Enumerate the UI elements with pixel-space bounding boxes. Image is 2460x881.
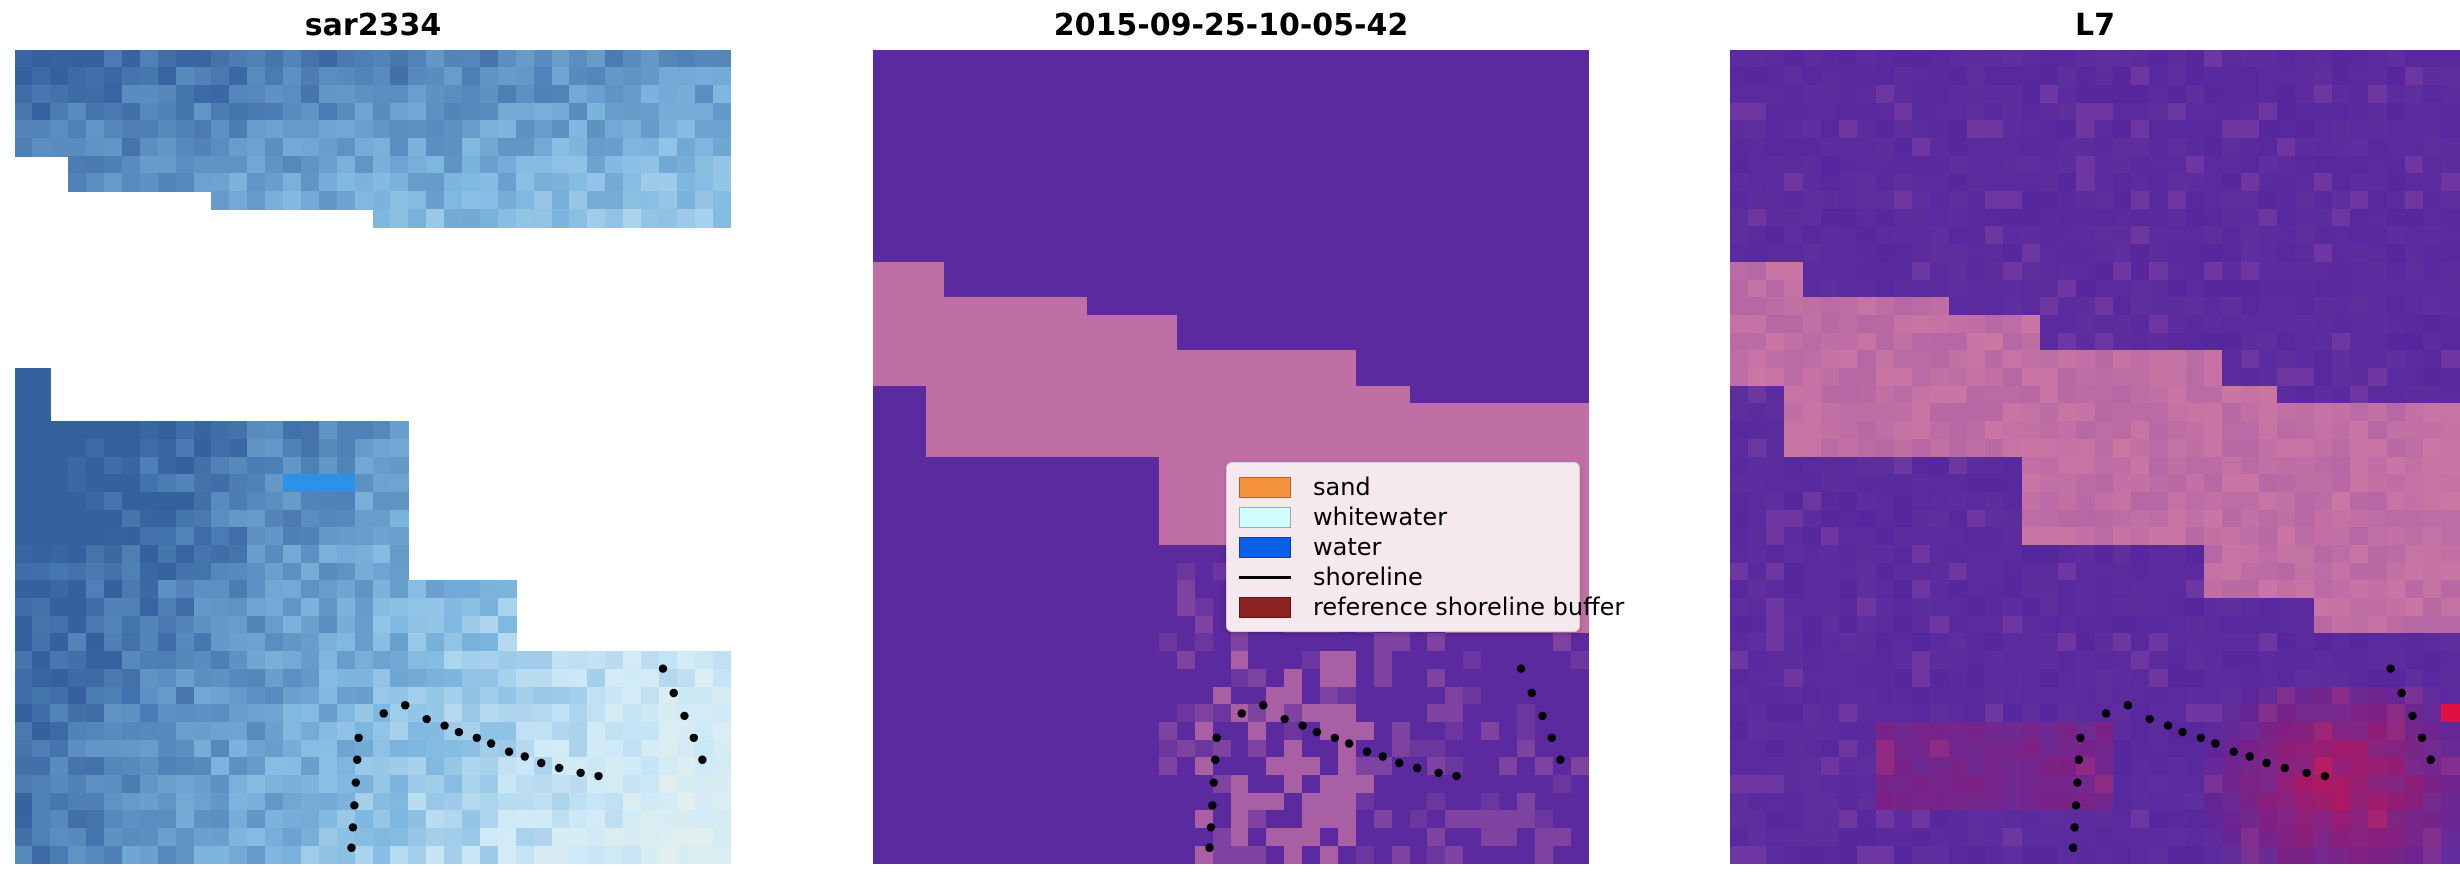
legend-box[interactable]: sand whitewater water shoreline referenc bbox=[1226, 462, 1580, 632]
legend-item-reference-shoreline-buffer[interactable]: reference shoreline buffer bbox=[1239, 592, 1565, 622]
legend-label-water: water bbox=[1301, 532, 1381, 562]
whitewater-color-icon bbox=[1239, 507, 1291, 528]
water-color-icon bbox=[1239, 537, 1291, 558]
panel-classified[interactable]: 2015-09-25-10-05-42 bbox=[873, 50, 1589, 864]
sand-swatch-cell bbox=[1239, 472, 1301, 502]
legend-item-sand[interactable]: sand bbox=[1239, 472, 1565, 502]
reference-shoreline-buffer-color-icon bbox=[1239, 597, 1291, 618]
legend-item-whitewater[interactable]: whitewater bbox=[1239, 502, 1565, 532]
legend-label-reference-shoreline-buffer: reference shoreline buffer bbox=[1301, 592, 1624, 622]
panel-sar2334[interactable]: sar2334 bbox=[15, 50, 731, 864]
figure-root: sar2334 2015-09-25-10-05-42 L7 sand whit… bbox=[0, 0, 2460, 881]
water-swatch-cell bbox=[1239, 532, 1301, 562]
panel-l7[interactable]: L7 bbox=[1730, 50, 2460, 864]
whitewater-swatch-cell bbox=[1239, 502, 1301, 532]
shoreline-line-icon bbox=[1239, 576, 1291, 579]
legend-item-water[interactable]: water bbox=[1239, 532, 1565, 562]
sand-color-icon bbox=[1239, 477, 1291, 498]
panel-sar2334-raster[interactable] bbox=[15, 50, 731, 864]
panel-classified-raster[interactable] bbox=[873, 50, 1589, 864]
panel-classified-title: 2015-09-25-10-05-42 bbox=[873, 8, 1589, 43]
shoreline-swatch-cell bbox=[1239, 562, 1301, 592]
legend-label-whitewater: whitewater bbox=[1301, 502, 1447, 532]
panel-l7-title: L7 bbox=[1730, 8, 2460, 43]
legend-label-sand: sand bbox=[1301, 472, 1371, 502]
panel-sar2334-title: sar2334 bbox=[15, 8, 731, 43]
reference-buffer-swatch-cell bbox=[1239, 592, 1301, 622]
legend-label-shoreline: shoreline bbox=[1301, 562, 1423, 592]
legend-item-shoreline[interactable]: shoreline bbox=[1239, 562, 1565, 592]
panel-l7-raster[interactable] bbox=[1730, 50, 2460, 864]
